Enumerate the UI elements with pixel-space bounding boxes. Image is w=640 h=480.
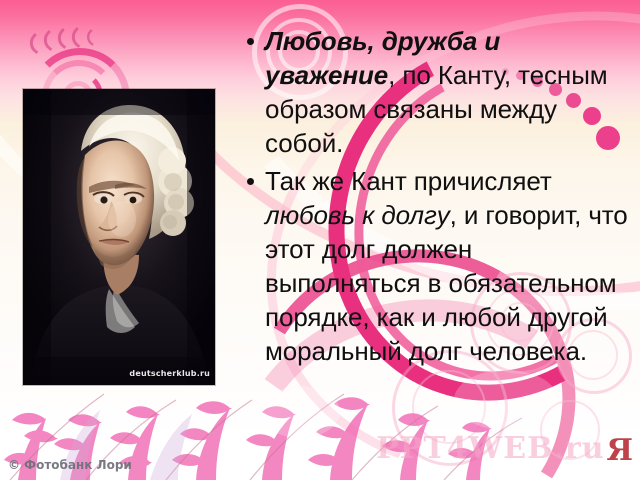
bullet-2-emphasis: любовь к долгу <box>265 200 450 230</box>
slide-text-block: Любовь, дружба и уважение, по Канту, тес… <box>240 24 632 372</box>
bullet-item-1: Любовь, дружба и уважение, по Канту, тес… <box>240 24 632 160</box>
bullet-item-2: Так же Кант причисляет любовь к долгу, и… <box>240 164 632 368</box>
bullet-list: Любовь, дружба и уважение, по Канту, тес… <box>240 24 632 368</box>
watermark-fotobank-lori: © Фотобанк Лори <box>8 458 132 472</box>
portrait-watermark: deutscherklub.ru <box>129 369 210 378</box>
portrait-image-immanuel-kant: deutscherklub.ru <box>23 89 215 385</box>
portrait-artwork <box>23 89 215 385</box>
slide-canvas: deutscherklub.ru Любовь, дружба и уважен… <box>0 0 640 480</box>
bullet-2-lead: Так же Кант причисляет <box>265 166 552 196</box>
